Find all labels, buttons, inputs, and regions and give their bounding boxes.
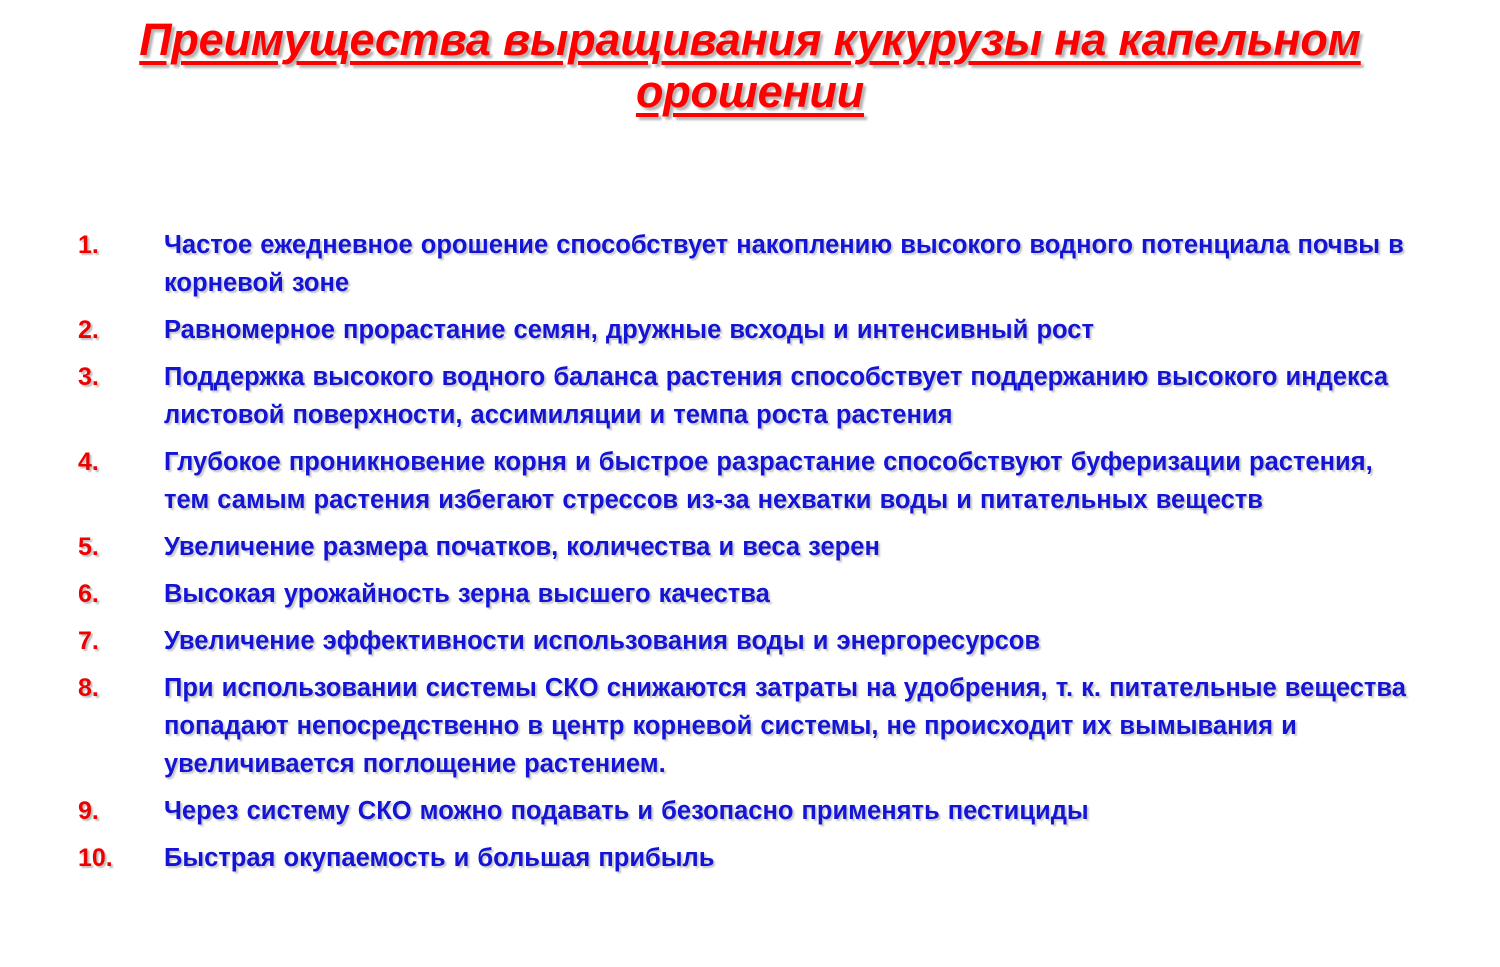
list-item: 1. Частое ежедневное орошение способству… — [78, 226, 1418, 302]
list-item-text: Равномерное прорастание семян, дружные в… — [164, 311, 1418, 349]
slide-canvas: Преимущества выращивания кукурузы на кап… — [0, 0, 1500, 967]
list-item-text: Через систему СКО можно подавать и безоп… — [164, 792, 1418, 830]
list-item: 3. Поддержка высокого водного баланса ра… — [78, 358, 1418, 434]
list-item-number: 1. — [78, 226, 164, 264]
advantages-body: 1. Частое ежедневное орошение способству… — [78, 226, 1418, 886]
list-item-number: 7. — [78, 622, 164, 660]
list-item: 5. Увеличение размера початков, количест… — [78, 528, 1418, 566]
list-item-number: 5. — [78, 528, 164, 566]
list-item-number: 9. — [78, 792, 164, 830]
advantages-list: 1. Частое ежедневное орошение способству… — [78, 226, 1418, 877]
list-item-number: 2. — [78, 311, 164, 349]
list-item-number: 4. — [78, 443, 164, 481]
list-item-text: Поддержка высокого водного баланса расте… — [164, 358, 1418, 434]
list-item: 7. Увеличение эффективности использовани… — [78, 622, 1418, 660]
list-item: 2. Равномерное прорастание семян, дружны… — [78, 311, 1418, 349]
list-item-number: 10. — [78, 839, 164, 877]
list-item-number: 3. — [78, 358, 164, 396]
list-item-text: Глубокое проникновение корня и быстрое р… — [164, 443, 1418, 519]
list-item: 9. Через систему СКО можно подавать и бе… — [78, 792, 1418, 830]
list-item-text: При использовании системы СКО снижаются … — [164, 669, 1418, 783]
list-item-number: 8. — [78, 669, 164, 707]
title-block: Преимущества выращивания кукурузы на кап… — [50, 14, 1450, 118]
list-item: 4. Глубокое проникновение корня и быстро… — [78, 443, 1418, 519]
list-item-number: 6. — [78, 575, 164, 613]
page-title: Преимущества выращивания кукурузы на кап… — [50, 14, 1450, 118]
list-item-text: Увеличение размера початков, количества … — [164, 528, 1418, 566]
list-item-text: Частое ежедневное орошение способствует … — [164, 226, 1418, 302]
list-item-text: Высокая урожайность зерна высшего качест… — [164, 575, 1418, 613]
list-item: 6. Высокая урожайность зерна высшего кач… — [78, 575, 1418, 613]
list-item: 8. При использовании системы СКО снижают… — [78, 669, 1418, 783]
list-item-text: Быстрая окупаемость и большая прибыль — [164, 839, 1418, 877]
list-item: 10. Быстрая окупаемость и большая прибыл… — [78, 839, 1418, 877]
list-item-text: Увеличение эффективности использования в… — [164, 622, 1418, 660]
